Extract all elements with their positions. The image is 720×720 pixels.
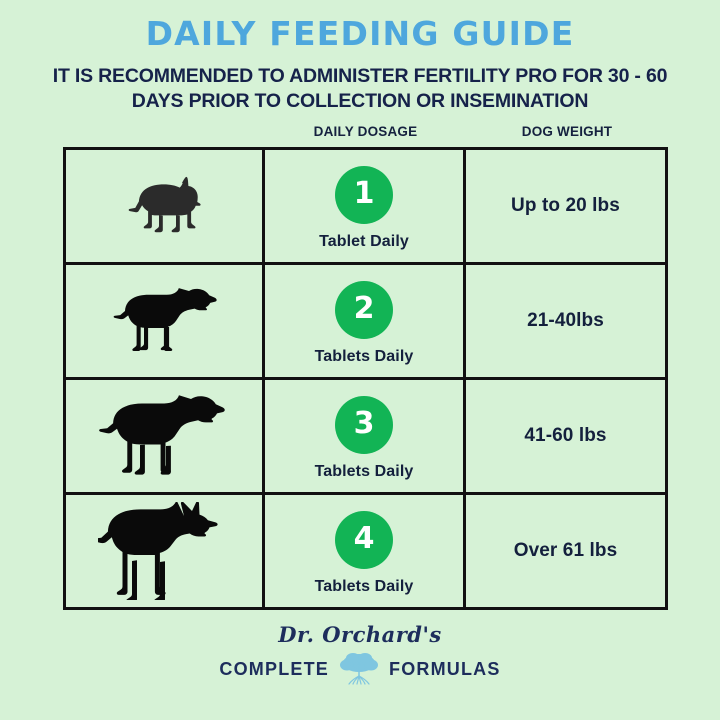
cell-dog-image: [66, 380, 265, 492]
dosage-badge: 4: [335, 511, 393, 569]
weight-value: 41-60 lbs: [524, 425, 606, 447]
dosage-label: Tablets Daily: [315, 348, 414, 366]
brand-word-formulas: FORMULAS: [389, 659, 501, 680]
cell-daily-dosage: 2 Tablets Daily: [265, 265, 466, 377]
weight-value: Over 61 lbs: [514, 540, 618, 562]
medium-dog-silhouette-icon: [105, 285, 223, 357]
column-header-daily-dosage: DAILY DOSAGE: [265, 124, 466, 139]
table-row: 2 Tablets Daily 21-40lbs: [66, 265, 665, 380]
page-title: DAILY FEEDING GUIDE: [0, 16, 720, 52]
cell-dog-image: [66, 495, 265, 607]
cell-dog-image: [66, 265, 265, 377]
cell-dog-weight: 21-40lbs: [466, 265, 665, 377]
great-dane-silhouette-icon: [98, 502, 230, 600]
brand-logo: Dr. Orchard's COMPLETE: [0, 624, 720, 686]
cell-daily-dosage: 3 Tablets Daily: [265, 380, 466, 492]
table-row: 1 Tablet Daily Up to 20 lbs: [66, 150, 665, 265]
weight-value: Up to 20 lbs: [511, 195, 620, 217]
dosage-badge: 2: [335, 281, 393, 339]
dosage-label: Tablet Daily: [319, 233, 409, 251]
brand-word-complete: COMPLETE: [219, 659, 329, 680]
column-header-dog-weight: DOG WEIGHT: [466, 124, 668, 139]
brand-name-bottom: COMPLETE: [0, 652, 720, 686]
oak-tree-icon: [335, 652, 383, 686]
cell-daily-dosage: 1 Tablet Daily: [265, 150, 466, 262]
large-dog-silhouette-icon: [97, 394, 231, 478]
cell-dog-weight: 41-60 lbs: [466, 380, 665, 492]
cell-dog-weight: Up to 20 lbs: [466, 150, 665, 262]
cell-daily-dosage: 4 Tablets Daily: [265, 495, 466, 607]
table-row: 3 Tablets Daily 41-60 lbs: [66, 380, 665, 495]
table-column-headers: DAILY DOSAGE DOG WEIGHT: [63, 124, 668, 146]
dosage-badge: 3: [335, 396, 393, 454]
cell-dog-image: [66, 150, 265, 262]
table-row: 4 Tablets Daily Over 61 lbs: [66, 495, 665, 607]
dosage-label: Tablets Daily: [315, 578, 414, 596]
page-subtitle: IT IS RECOMMENDED TO ADMINISTER FERTILIT…: [35, 64, 685, 114]
dosage-label: Tablets Daily: [315, 463, 414, 481]
weight-value: 21-40lbs: [527, 310, 604, 332]
cell-dog-weight: Over 61 lbs: [466, 495, 665, 607]
dosage-badge: 1: [335, 166, 393, 224]
feeding-guide-table: 1 Tablet Daily Up to 20 lbs 2 Tablets Da…: [63, 147, 668, 610]
french-bulldog-silhouette-icon: [118, 175, 210, 237]
header: DAILY FEEDING GUIDE IT IS RECOMMENDED TO…: [0, 0, 720, 114]
brand-name-top: Dr. Orchard's: [0, 624, 720, 645]
